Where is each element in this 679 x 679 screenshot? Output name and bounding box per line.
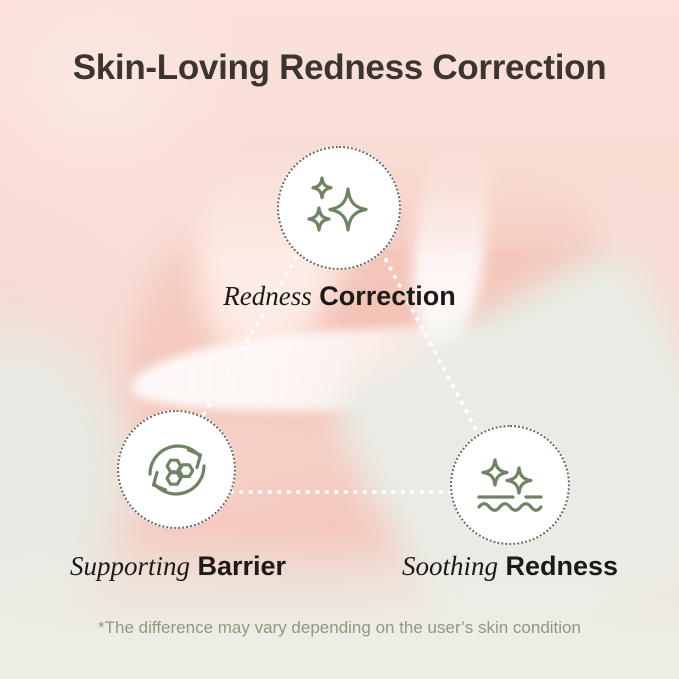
feature-label-soothing-redness: Soothing Redness — [360, 551, 660, 582]
skin-waves-sparkle-icon — [473, 450, 547, 520]
feature-label-rest: Correction — [312, 281, 456, 311]
feature-circle-soothing-redness[interactable] — [450, 425, 570, 545]
infographic-panel: Skin-Loving Redness Correction Redness C… — [0, 0, 679, 679]
background-vignette — [0, 0, 260, 220]
feature-label-emphasis: Redness — [223, 281, 311, 311]
page-title: Skin-Loving Redness Correction — [0, 48, 679, 88]
feature-label-rest: Barrier — [190, 551, 286, 581]
feature-circle-redness-correction[interactable] — [277, 146, 401, 270]
sparkles-icon — [302, 171, 376, 245]
feature-circle-supporting-barrier[interactable] — [117, 410, 236, 529]
feature-label-emphasis: Supporting — [70, 551, 190, 581]
feature-label-supporting-barrier: Supporting Barrier — [18, 551, 338, 582]
feature-label-rest: Redness — [498, 551, 618, 581]
footnote-disclaimer: *The difference may vary depending on th… — [0, 618, 679, 638]
feature-label-redness-correction: Redness Correction — [0, 281, 679, 312]
feature-label-emphasis: Soothing — [402, 551, 498, 581]
honeycomb-refresh-icon — [141, 434, 213, 506]
